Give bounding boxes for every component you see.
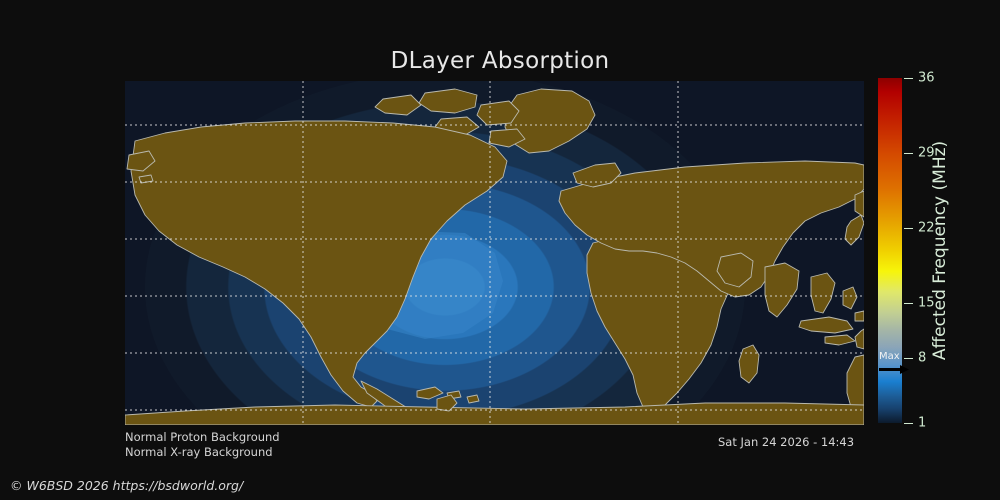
colorbar-tick-label: 1 <box>918 416 926 431</box>
colorbar-tick <box>904 228 913 229</box>
colorbar-tick <box>904 78 913 79</box>
xray-background-note: Normal X-ray Background <box>125 445 273 459</box>
colorbar-tick-label: 8 <box>918 351 926 366</box>
colorbar-tick <box>904 358 913 359</box>
colorbar-tick <box>904 423 913 424</box>
dlayer-absorption-view: DLayer Absorption <box>0 0 1000 500</box>
colorbar-axis-label: Affected Frequency (MHz) <box>928 78 952 423</box>
proton-background-note: Normal Proton Background <box>125 430 280 444</box>
colorbar-gradient <box>878 78 902 423</box>
credit-label: © W6BSD 2026 https://bsdworld.org/ <box>10 478 243 493</box>
page-title: DLayer Absorption <box>0 48 1000 74</box>
world-map-panel[interactable] <box>125 81 864 425</box>
timestamp-label: Sat Jan 24 2026 - 14:43 <box>718 435 854 449</box>
colorbar-tick <box>904 303 913 304</box>
world-map-svg <box>125 81 864 425</box>
colorbar: 3629221581 <box>878 78 902 423</box>
colorbar-tick <box>904 153 913 154</box>
